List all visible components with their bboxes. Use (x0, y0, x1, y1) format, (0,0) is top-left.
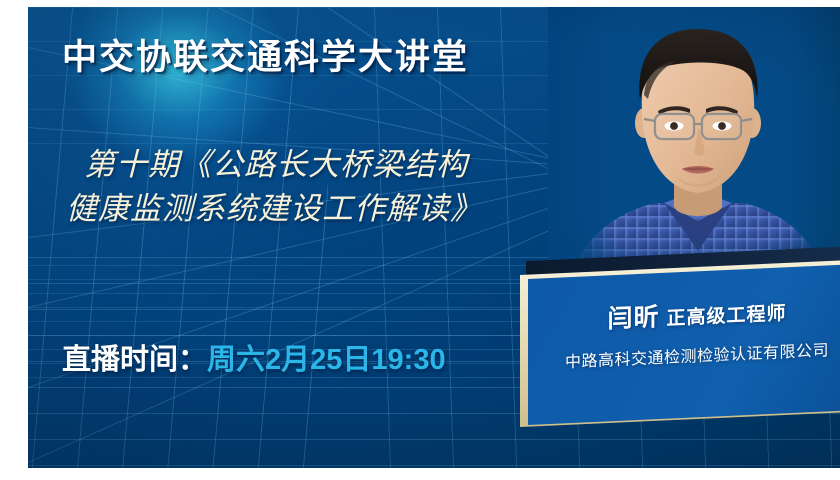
speaker-info-panel: 闫昕正高级工程师 中路高科交通检测检验认证有限公司 (520, 271, 840, 431)
poster-root: 中交协联交通科学大讲堂 第十期《公路长大桥梁结构 健康监测系统建设工作解读》 直… (0, 0, 840, 480)
panel-text-block: 闫昕正高级工程师 中路高科交通检测检验认证有限公司 (528, 264, 840, 425)
live-time-value: 周六2月25日19:30 (207, 344, 446, 376)
subtitle-line-1: 第十期《公路长大桥梁结构 (64, 143, 584, 187)
live-time-row: 直播时间：周六2月25日19:30 (62, 336, 446, 378)
live-time-label: 直播时间： (62, 344, 207, 376)
speaker-title: 正高级工程师 (667, 303, 787, 329)
subtitle-line-2: 健康监测系统建设工作解读》 (64, 187, 584, 231)
subtitle-block: 第十期《公路长大桥梁结构 健康监测系统建设工作解读》 (64, 143, 584, 231)
speaker-name-row: 闫昕正高级工程师 (607, 291, 786, 335)
poster-canvas: 中交协联交通科学大讲堂 第十期《公路长大桥梁结构 健康监测系统建设工作解读》 直… (28, 7, 840, 468)
speaker-organization: 中路高科交通检测检验认证有限公司 (565, 336, 829, 372)
page-title: 中交协联交通科学大讲堂 (62, 29, 469, 80)
speaker-name: 闫昕 (607, 303, 659, 333)
